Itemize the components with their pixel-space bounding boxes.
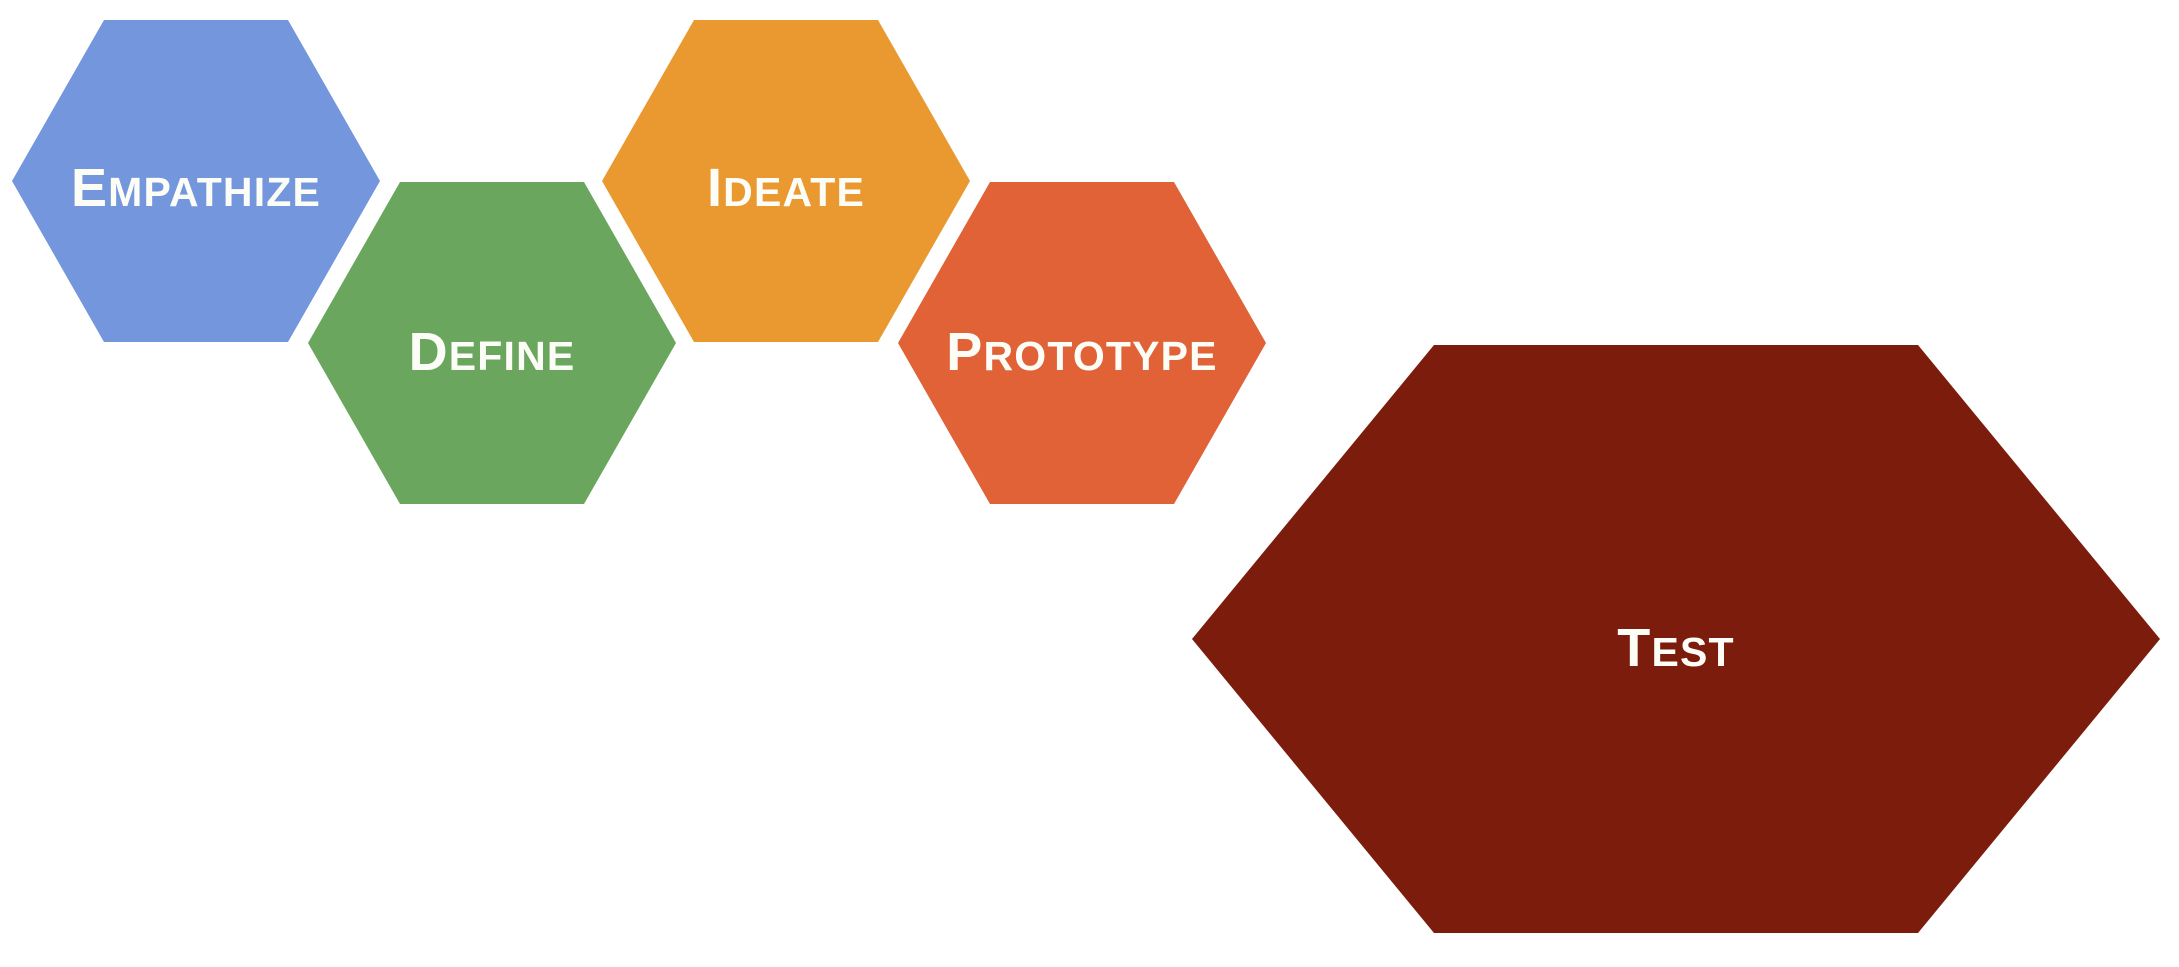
design-thinking-diagram: Empathize Define Ideate Prototype Test xyxy=(0,0,2179,967)
stage-hexagon-empathize[interactable]: Empathize xyxy=(12,20,380,342)
stage-label-test: Test xyxy=(1617,603,1734,680)
stage-hexagon-prototype[interactable]: Prototype xyxy=(898,182,1266,504)
stage-label-define: Define xyxy=(409,307,576,384)
stage-label-empathize: Empathize xyxy=(71,143,321,220)
stage-hexagon-define[interactable]: Define xyxy=(308,182,676,504)
stage-label-ideate: Ideate xyxy=(707,143,865,220)
stage-hexagon-test[interactable]: Test xyxy=(1192,345,2160,933)
stage-hexagon-ideate[interactable]: Ideate xyxy=(602,20,970,342)
stage-label-prototype: Prototype xyxy=(946,307,1217,384)
